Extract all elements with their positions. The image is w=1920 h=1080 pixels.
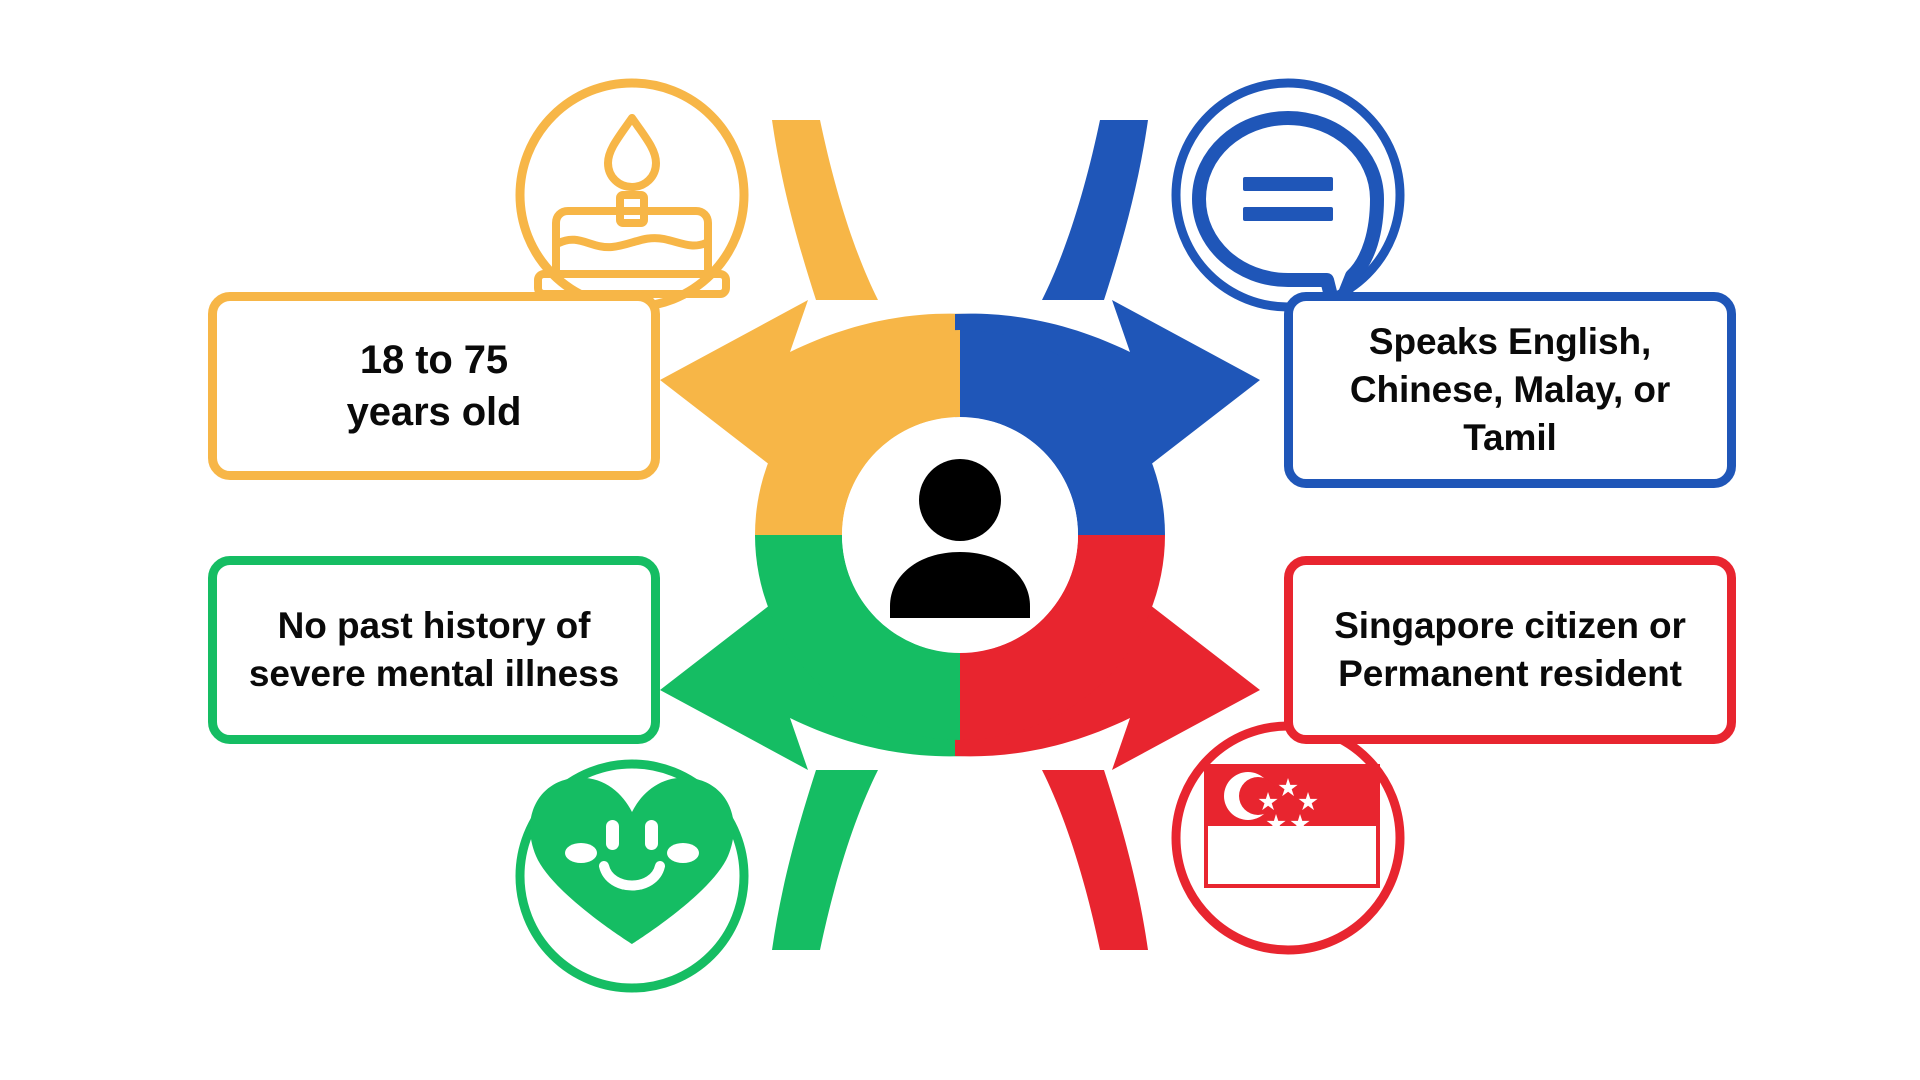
callout-language-line-3: Tamil bbox=[1334, 414, 1686, 462]
callout-citizenship[interactable]: Singapore citizen or Permanent resident bbox=[1284, 556, 1736, 744]
callout-citizenship-line-2: Permanent resident bbox=[1318, 650, 1702, 698]
callout-age-line-2: years old bbox=[331, 386, 538, 438]
callout-age-line-1: 18 to 75 bbox=[331, 334, 538, 386]
connector-tail-age bbox=[772, 120, 878, 300]
callout-citizenship-text: Singapore citizen or Permanent resident bbox=[1318, 602, 1702, 698]
callout-citizenship-line-1: Singapore citizen or bbox=[1318, 602, 1702, 650]
diagram-graphics bbox=[0, 0, 1920, 1080]
callout-language-text: Speaks English, Chinese, Malay, or Tamil bbox=[1334, 318, 1686, 462]
callout-age[interactable]: 18 to 75 years old bbox=[208, 292, 660, 480]
center-avatar bbox=[842, 417, 1078, 653]
callout-language-line-2: Chinese, Malay, or bbox=[1334, 366, 1686, 414]
callout-mental-health-line-1: No past history of bbox=[233, 602, 635, 650]
callout-language-line-1: Speaks English, bbox=[1334, 318, 1686, 366]
connector-tail-mental-health bbox=[772, 770, 878, 950]
infographic-canvas: 18 to 75 years old Speaks English, Chine… bbox=[0, 0, 1920, 1080]
singapore-flag-icon bbox=[1206, 766, 1378, 886]
callout-mental-health[interactable]: No past history of severe mental illness bbox=[208, 556, 660, 744]
callout-age-text: 18 to 75 years old bbox=[331, 334, 538, 438]
callout-language[interactable]: Speaks English, Chinese, Malay, or Tamil bbox=[1284, 292, 1736, 488]
connector-tail-language bbox=[1042, 120, 1148, 300]
connector-tail-citizenship bbox=[1042, 770, 1148, 950]
callout-mental-health-text: No past history of severe mental illness bbox=[233, 602, 635, 698]
callout-mental-health-line-2: severe mental illness bbox=[233, 650, 635, 698]
